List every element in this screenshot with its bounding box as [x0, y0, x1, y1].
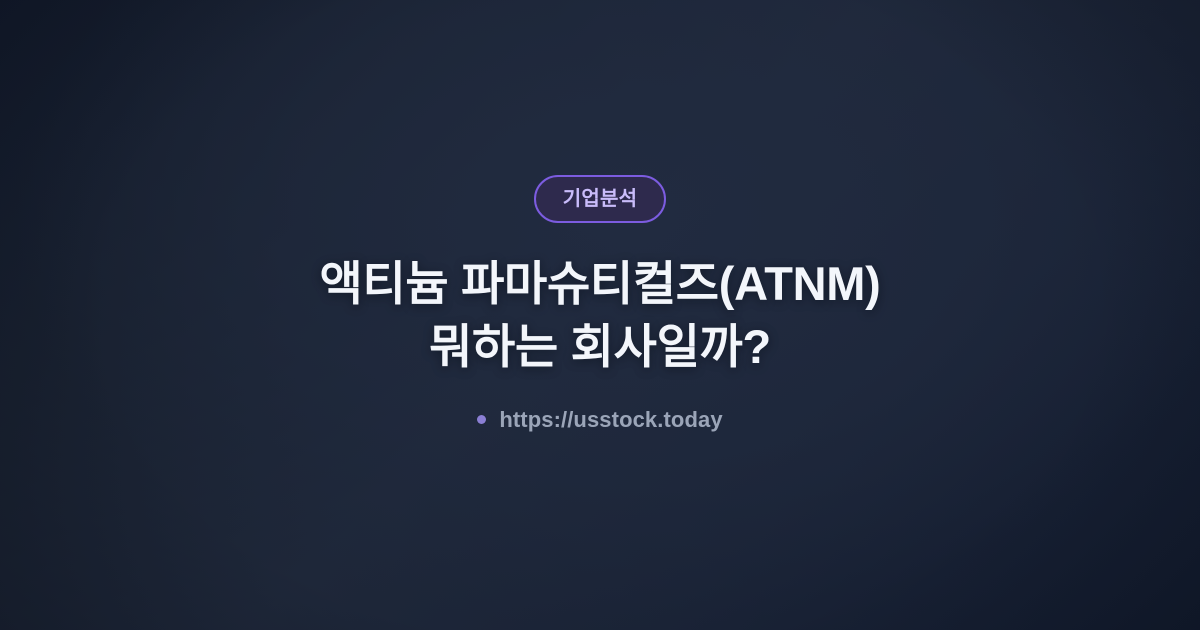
category-badge: 기업분석 [534, 175, 666, 223]
dot-icon [477, 415, 486, 424]
site-url-label: https://usstock.today [499, 409, 722, 431]
open-graph-card: 기업분석 액티늄 파마슈티컬즈(ATNM) 뭐하는 회사일까? https://… [0, 0, 1200, 630]
page-title-line-2: 뭐하는 회사일까? [320, 316, 881, 379]
page-title: 액티늄 파마슈티컬즈(ATNM) 뭐하는 회사일까? [320, 253, 881, 379]
page-title-line-1: 액티늄 파마슈티컬즈(ATNM) [320, 253, 881, 316]
site-url-row: https://usstock.today [477, 409, 722, 431]
card-content: 기업분석 액티늄 파마슈티컬즈(ATNM) 뭐하는 회사일까? https://… [0, 175, 1200, 431]
